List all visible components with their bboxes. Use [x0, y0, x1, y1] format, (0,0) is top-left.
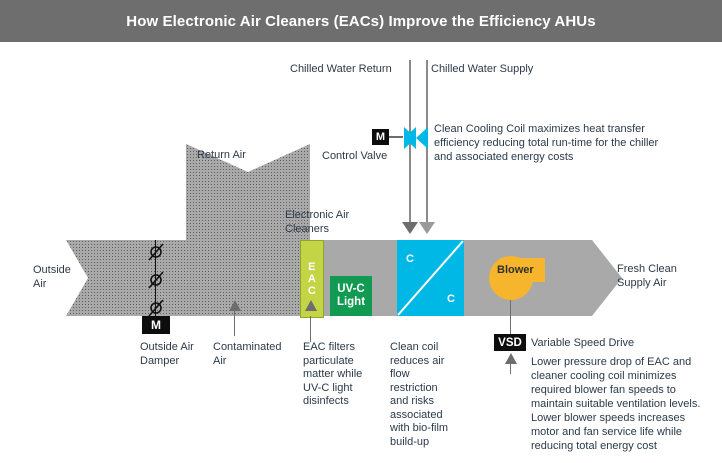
- control-valve-actuator-tag: M: [372, 129, 389, 145]
- blower-wheel[interactable]: [489, 256, 533, 300]
- coil-label-top: C: [406, 253, 414, 265]
- page-title: How Electronic Air Cleaners (EACs) Impro…: [0, 0, 722, 42]
- chilled-water-supply-label: Chilled Water Supply: [431, 63, 533, 77]
- eac-pointer-stem: [310, 316, 311, 342]
- contaminated-air-duct: [186, 240, 300, 316]
- vsd-stem: [510, 300, 511, 334]
- eac-unit-letters: E A C: [308, 261, 316, 297]
- eac-pointer-arrow: [305, 300, 317, 311]
- fresh-clean-supply-air-label: Fresh Clean Supply Air: [617, 263, 689, 290]
- chilled-water-supply-arrow: [419, 222, 435, 234]
- eac-heading: Electronic Air Cleaners: [285, 209, 357, 236]
- cooling-coil-note: Clean Cooling Coil maximizes heat transf…: [434, 122, 659, 164]
- damper-actuator-tag: M: [142, 316, 170, 334]
- eac-filters-caption: EAC filters particulate matter while UV-…: [303, 341, 367, 409]
- blower-label: Blower: [497, 264, 534, 276]
- coil-label-bottom: C: [447, 293, 455, 305]
- return-air-label: Return Air: [197, 149, 246, 163]
- outside-air-damper-caption: Outside Air Damper: [140, 341, 200, 368]
- clean-coil-caption: Clean coil reduces air flow restriction …: [390, 341, 452, 449]
- contaminated-air-pointer-arrow: [229, 300, 241, 311]
- control-valve-symbol: [396, 126, 428, 150]
- cooling-coil-unit[interactable]: C C: [397, 240, 464, 316]
- outside-air-label: Outside Air: [33, 264, 77, 291]
- chilled-water-return-label: Chilled Water Return: [290, 63, 392, 77]
- chilled-water-return-arrow: [402, 222, 418, 234]
- contaminated-air-pointer-stem: [234, 308, 235, 336]
- contaminated-air-caption: Contaminated Air: [213, 341, 281, 368]
- vsd-body-note: Lower pressure drop of EAC and cleaner c…: [531, 355, 701, 453]
- vsd-title: Variable Speed Drive: [531, 337, 634, 351]
- control-valve-label: Control Valve: [322, 150, 387, 164]
- header-bar: How Electronic Air Cleaners (EACs) Impro…: [0, 0, 722, 42]
- diagram-canvas: How Electronic Air Cleaners (EACs) Impro…: [0, 0, 722, 463]
- vsd-tag: VSD: [494, 334, 526, 351]
- vsd-pointer-arrow: [505, 353, 517, 364]
- damper-blades-icon: [140, 240, 172, 324]
- uvc-light-unit[interactable]: UV-C Light: [330, 276, 372, 316]
